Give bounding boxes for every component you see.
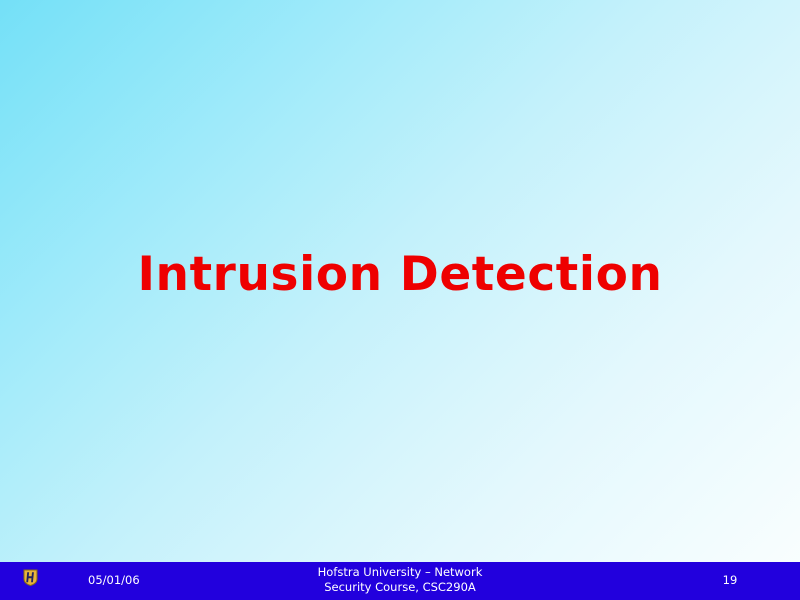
footer-page-number: 19 — [700, 573, 760, 587]
hofstra-shield-icon — [23, 569, 38, 586]
footer-course-info: Hofstra University – Network Security Co… — [240, 565, 560, 595]
footer-date: 05/01/06 — [88, 573, 140, 587]
footer-course-line-1: Hofstra University – Network — [240, 565, 560, 580]
footer-course-line-2: Security Course, CSC290A — [240, 580, 560, 595]
slide-footer-bar: 05/01/06 Hofstra University – Network Se… — [0, 562, 800, 600]
slide-title-area: Intrusion Detection — [0, 246, 800, 304]
presentation-slide: Intrusion Detection 05/01/06 Hofstra Uni… — [0, 0, 800, 600]
page-title: Intrusion Detection — [0, 246, 800, 304]
